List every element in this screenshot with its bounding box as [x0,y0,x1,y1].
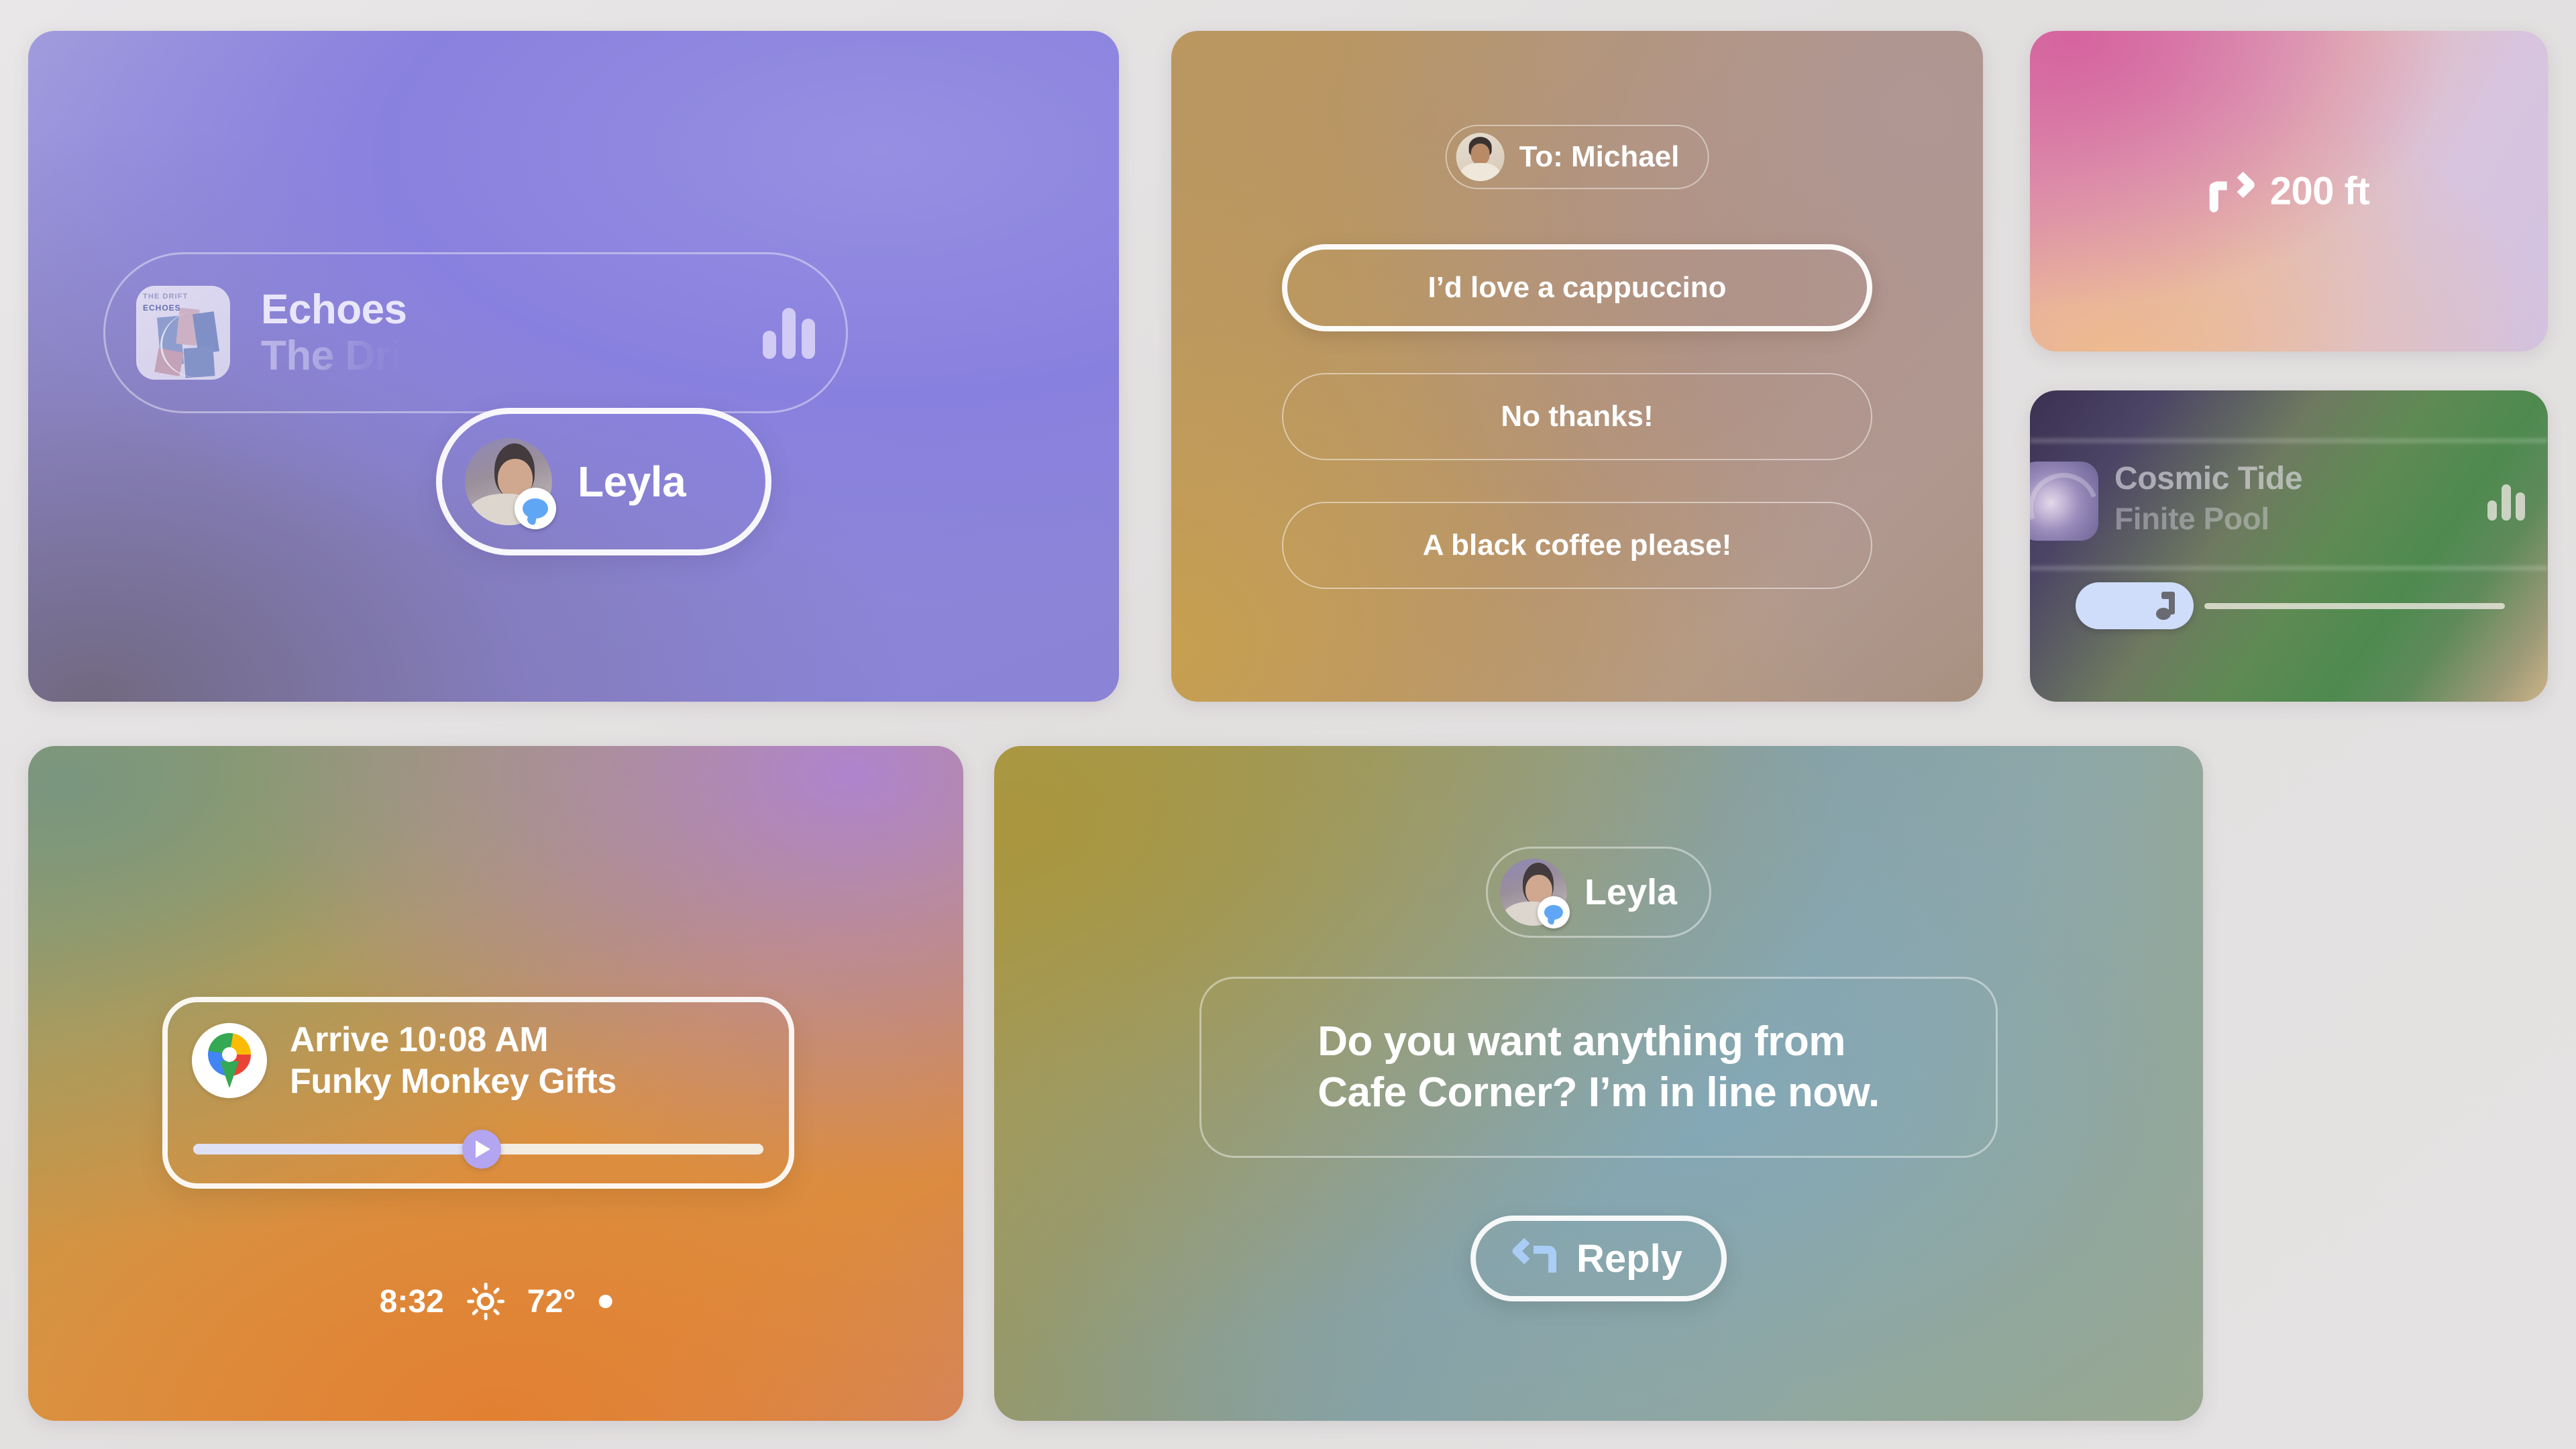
contact-pill-leyla[interactable]: Leyla [436,408,771,555]
progress-remaining [490,1144,764,1155]
sender-chip[interactable]: Leyla [1486,847,1711,938]
navigation-distance-card[interactable]: 200 ft [2030,31,2548,352]
widget-dashboard: THE DRIFT ECHOES Echoes The Drift Leyla … [0,0,2576,1449]
now-playing-card[interactable]: THE DRIFT ECHOES Echoes The Drift Leyla [28,31,1119,702]
music-note-icon [2156,592,2179,620]
suggested-replies-card[interactable]: To: Michael I’d love a cappuccino No tha… [1171,31,1983,702]
progress-filled [193,1144,473,1155]
arrival-header: Arrive 10:08 AM Funky Monkey Gifts [168,1002,789,1102]
navigation-row: 200 ft [2208,169,2370,214]
now-playing-pill[interactable]: THE DRIFT ECHOES Echoes The Drift [103,252,848,413]
reply-option-0[interactable]: I’d love a cappuccino [1282,244,1872,331]
recipient-chip[interactable]: To: Michael [1446,125,1709,189]
equalizer-icon [763,307,815,359]
message-line-2: Cafe Corner? I’m in line now. [1318,1067,1880,1118]
reply-option-1[interactable]: No thanks! [1282,373,1872,460]
messages-bubble-icon [515,488,556,529]
arrival-card[interactable]: Arrive 10:08 AM Funky Monkey Gifts 8:32 [28,746,963,1421]
slider-track[interactable] [2204,603,2505,609]
equalizer-icon [2487,483,2525,521]
arrival-eta: Arrive 10:08 AM [290,1020,616,1060]
album-art-label-bottom: ECHOES [143,303,181,313]
avatar-michael [1456,133,1505,181]
now-playing-meta: Echoes The Drift [261,288,429,378]
incoming-message-card[interactable]: Leyla Do you want anything from Cafe Cor… [994,746,2203,1421]
cosmic-track-artist: Finite Pool [2114,500,2269,537]
reply-button-label: Reply [1576,1236,1682,1281]
sun-icon [467,1283,504,1320]
message-line-1: Do you want anything from [1318,1016,1880,1067]
reply-arrow-icon [1515,1242,1556,1275]
clock-time: 8:32 [380,1283,444,1320]
recipient-label: To: Michael [1519,140,1680,174]
cosmic-album-art [2030,462,2098,541]
route-progress-slider[interactable] [193,1143,763,1155]
album-art-label-top: THE DRIFT [143,292,188,301]
slider-knob[interactable] [2076,582,2194,629]
message-body: Do you want anything from Cafe Corner? I… [1318,1016,1880,1118]
reply-option-2[interactable]: A black coffee please! [1282,502,1872,589]
reply-button[interactable]: Reply [1470,1216,1727,1301]
sender-name: Leyla [1585,871,1677,913]
navigation-distance: 200 ft [2270,169,2370,214]
cosmic-volume-slider[interactable] [2076,582,2505,629]
contact-name: Leyla [578,457,686,506]
track-title: Echoes [261,288,429,331]
arrival-destination: Funky Monkey Gifts [290,1061,616,1102]
dot-indicator [598,1295,612,1308]
messages-bubble-icon [1538,896,1570,928]
cosmic-player-card[interactable]: Cosmic Tide Finite Pool [2030,390,2548,702]
turn-right-icon [2208,170,2253,212]
navigation-arrow-icon[interactable] [462,1130,501,1169]
avatar [465,438,552,525]
message-bubble[interactable]: Do you want anything from Cafe Corner? I… [1199,977,1998,1158]
cosmic-track-title: Cosmic Tide [2114,460,2302,497]
album-art-thumbnail: THE DRIFT ECHOES [136,286,230,380]
light-streak [2030,439,2548,443]
arrival-panel[interactable]: Arrive 10:08 AM Funky Monkey Gifts [162,997,794,1189]
temperature: 72° [527,1283,576,1320]
light-streak [2030,566,2548,570]
google-maps-pin-icon [192,1023,267,1098]
track-artist: The Drift [261,334,429,378]
avatar [1500,859,1567,926]
status-row: 8:32 72° [380,1283,612,1320]
